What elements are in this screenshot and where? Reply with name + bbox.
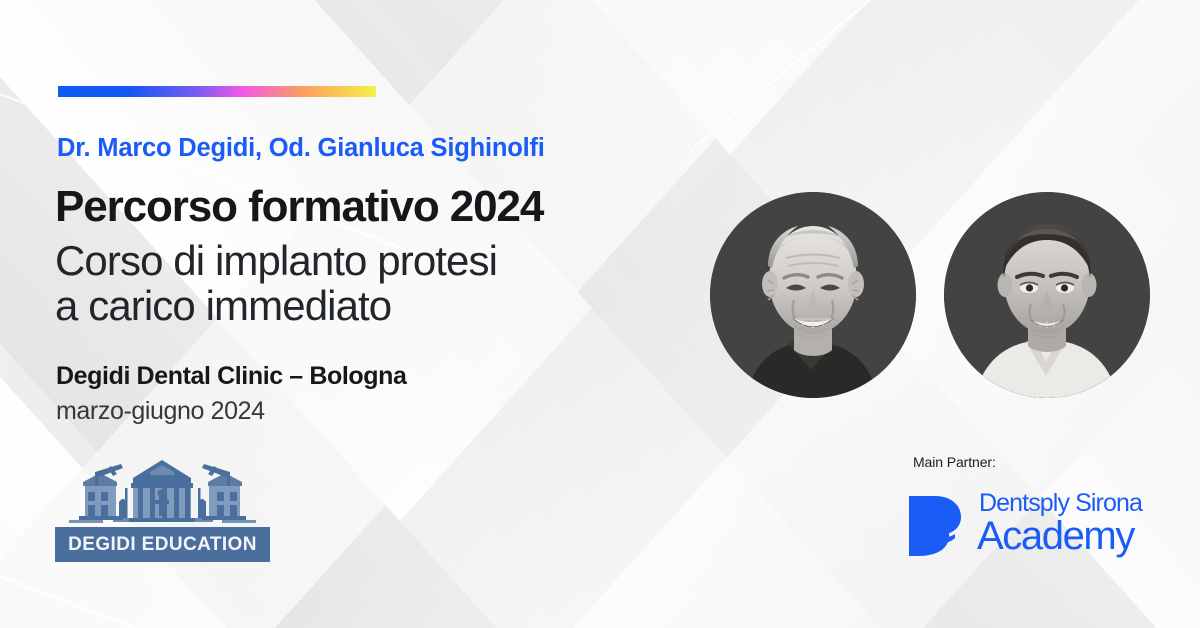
dentsply-sirona-s-mark-icon [905,493,967,561]
page-subtitle: Corso di implanto protesi a carico immed… [55,238,497,329]
portrait-marco-degidi [710,192,916,398]
degidi-education-logo: DEGIDI EDUCATION [55,452,270,562]
classical-building-icon [55,452,270,530]
dates-line: marzo-giugno 2024 [56,397,265,426]
banner-content: Dr. Marco Degidi, Od. Gianluca Sighinolf… [0,0,1200,628]
main-partner-label: Main Partner: [913,454,996,470]
presenters-line: Dr. Marco Degidi, Od. Gianluca Sighinolf… [57,134,545,163]
page-title: Percorso formativo 2024 [55,184,543,230]
gradient-accent-bar [58,86,376,97]
dentsply-sirona-academy-wordmark: Dentsply Sirona Academy [979,487,1155,565]
venue-line: Degidi Dental Clinic – Bologna [56,362,407,391]
degidi-education-wordmark-bar: DEGIDI EDUCATION [55,527,270,562]
portrait-gianluca-sighinolfi [944,192,1150,398]
degidi-education-wordmark: DEGIDI EDUCATION [68,534,257,556]
dentsply-sirona-academy-logo: Dentsply Sirona Academy [905,487,1153,565]
brand-line-academy: Academy [977,514,1134,559]
